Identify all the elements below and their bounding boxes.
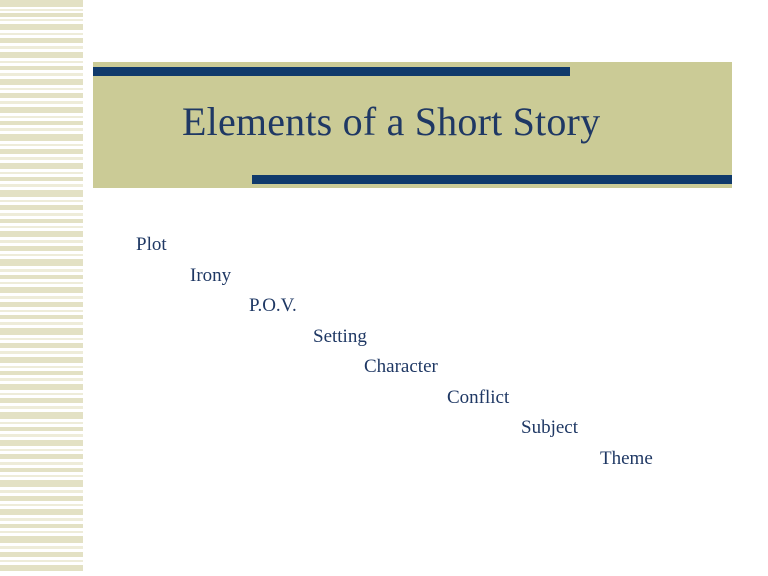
slide-canvas: Elements of a Short Story PlotIronyP.O.V…: [0, 0, 768, 576]
story-element-subject: Subject: [521, 417, 578, 439]
story-element-irony: Irony: [190, 265, 231, 287]
story-elements-cascade: PlotIronyP.O.V.SettingCharacterConflictS…: [0, 0, 768, 576]
story-element-character: Character: [364, 356, 438, 378]
story-element-plot: Plot: [136, 234, 167, 256]
story-element-setting: Setting: [313, 326, 367, 348]
story-element-p-o-v: P.O.V.: [249, 295, 297, 317]
story-element-theme: Theme: [600, 448, 653, 470]
story-element-conflict: Conflict: [447, 387, 509, 409]
